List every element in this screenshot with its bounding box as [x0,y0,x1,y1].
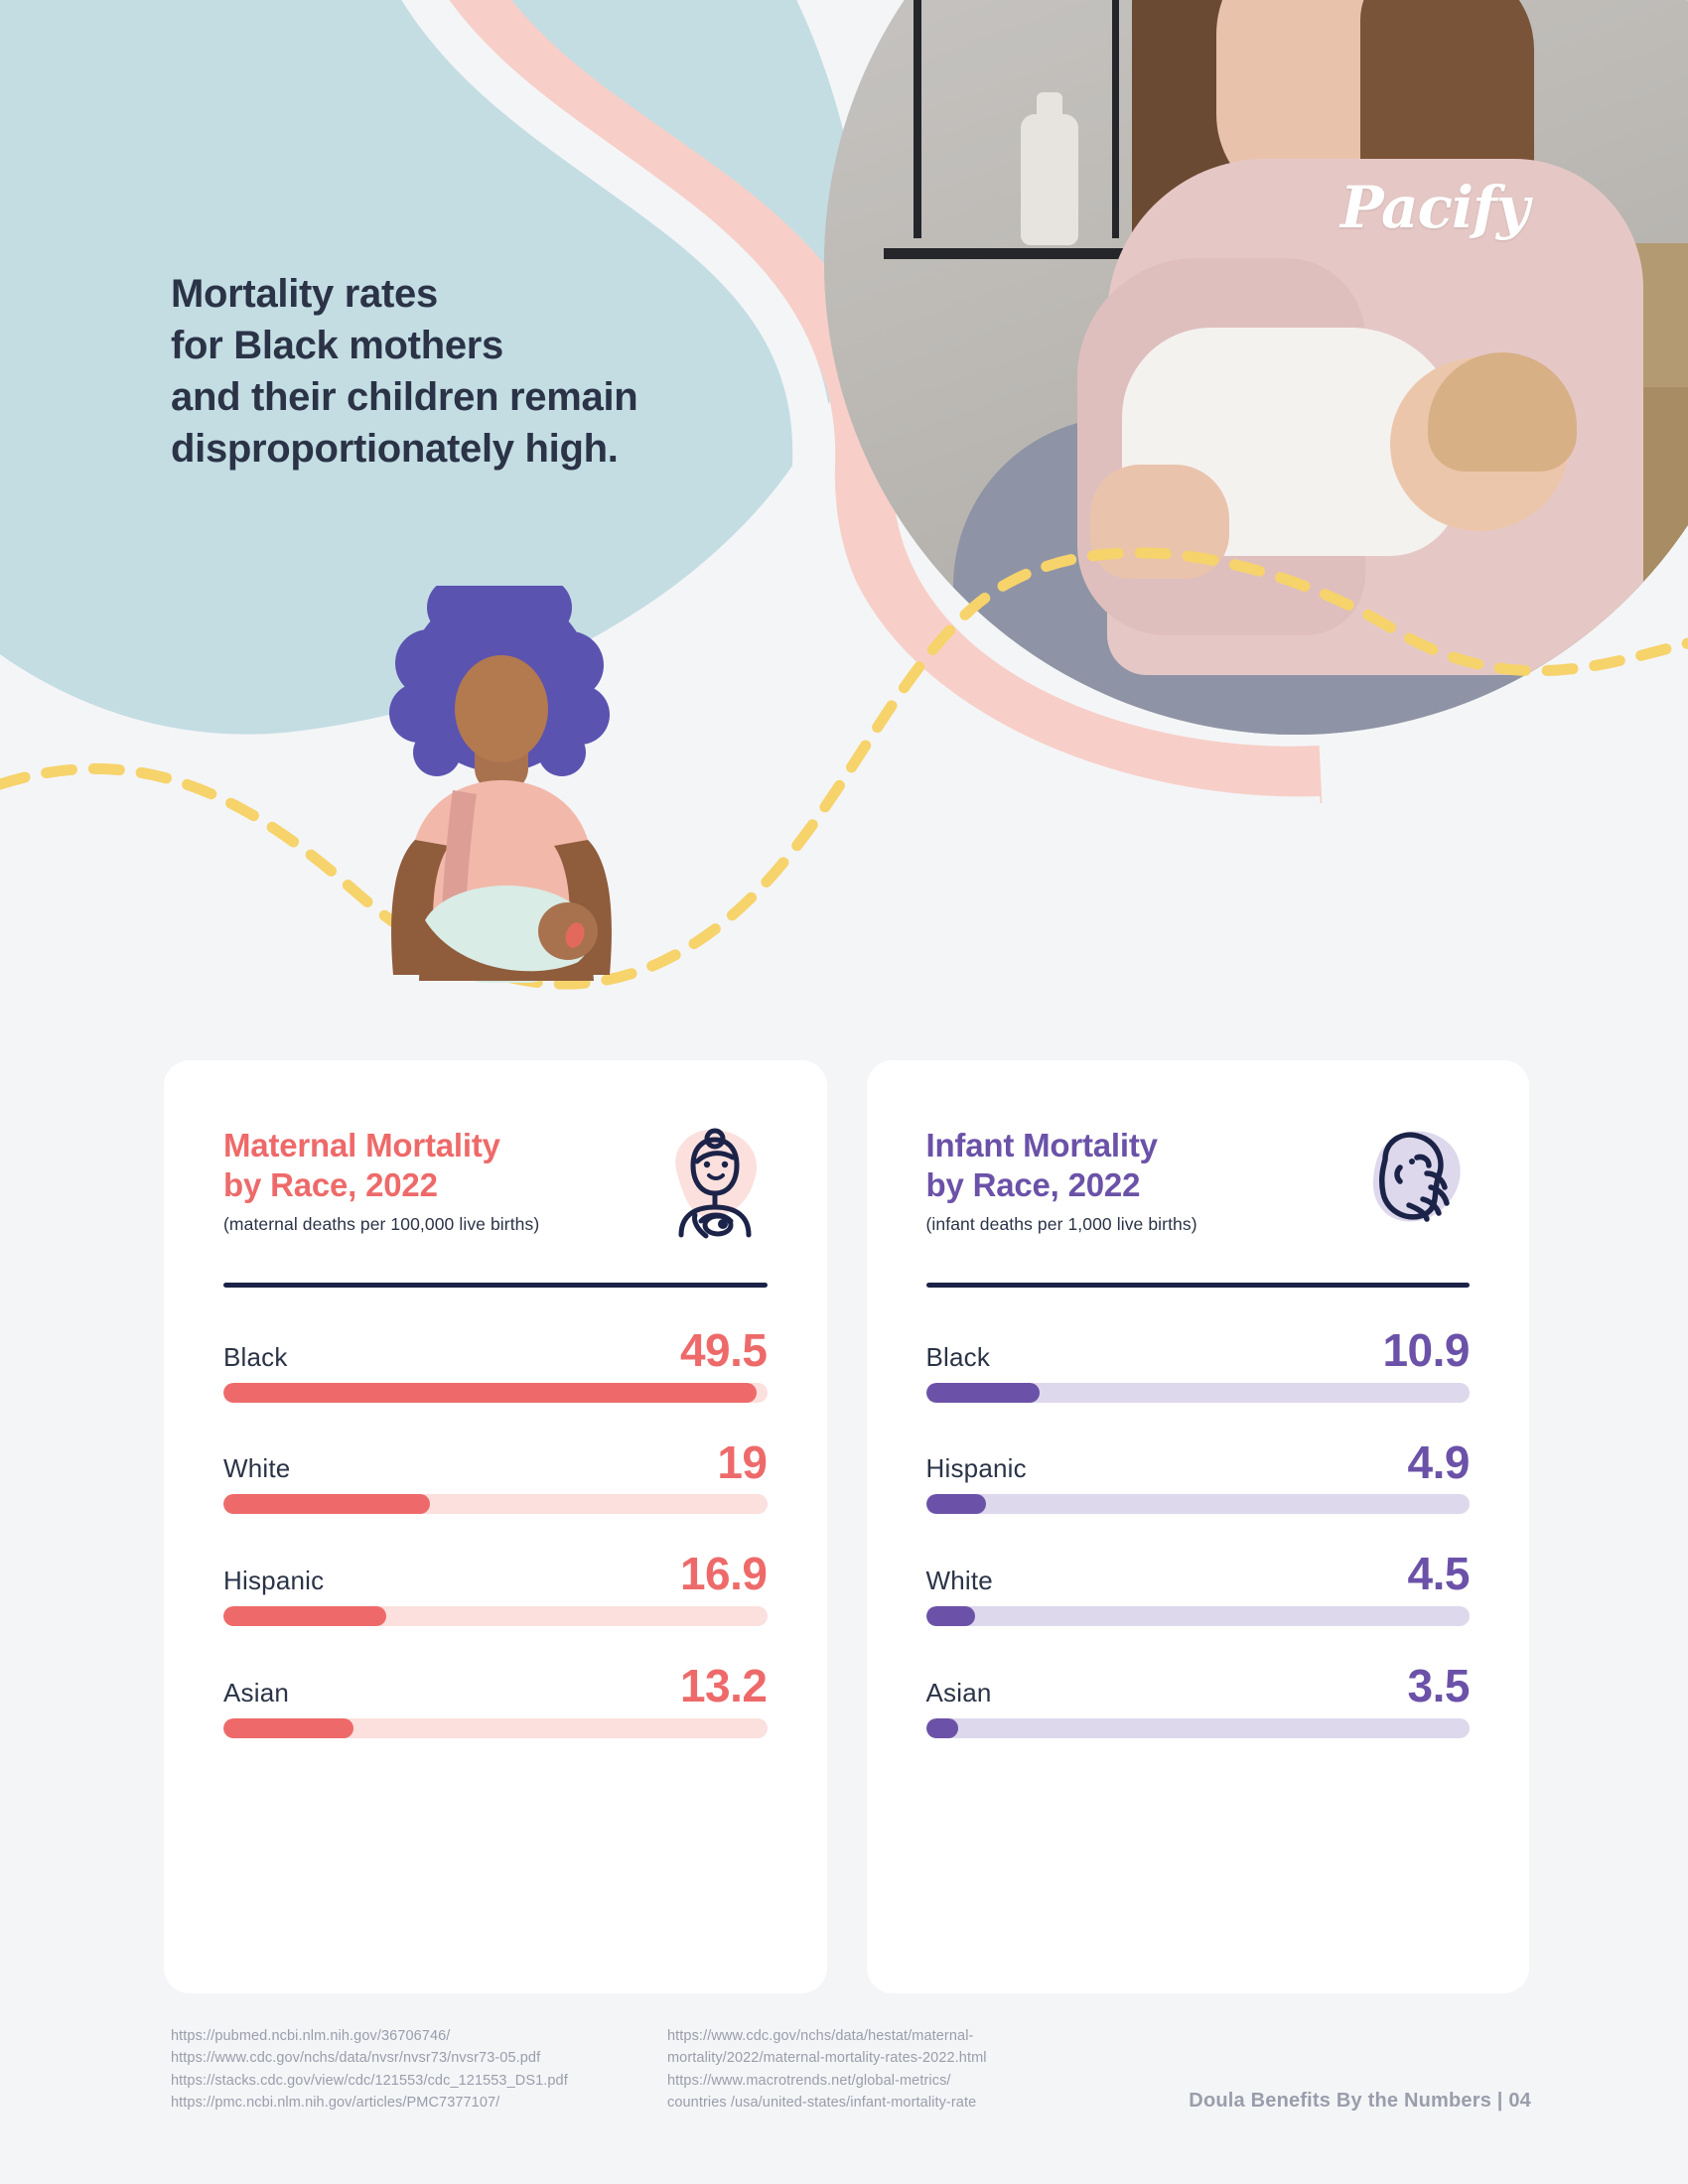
bar-value: 10.9 [1382,1329,1470,1373]
bar-label: White [223,1453,290,1484]
bar-label: Hispanic [223,1566,324,1596]
bar-row: Asian 3.5 [926,1665,1471,1738]
card-title: Infant Mortality by Race, 2022 [926,1126,1197,1206]
bar-track [223,1383,768,1403]
bar-row: Hispanic 16.9 [223,1553,768,1626]
bar-fill [223,1494,430,1514]
bar-rows: Black 49.5 White 19 [223,1329,768,1738]
bar-fill [926,1606,975,1626]
bar-label: Asian [223,1678,289,1708]
bar-fill [223,1383,757,1403]
bar-track [223,1606,768,1626]
card-divider [223,1283,768,1288]
mother-holding-baby-icon [663,1122,768,1241]
references-column-2: https://www.cdc.gov/nchs/data/hestat/mat… [667,2025,1094,2115]
card-title-line2: by Race, 2022 [926,1165,1197,1205]
card-divider [926,1283,1471,1288]
bar-label: Black [223,1342,288,1373]
bar-fill [926,1718,959,1738]
infographic-page: Pacify [0,0,1688,2184]
card-title-line2: by Race, 2022 [223,1165,539,1205]
bar-row: White 19 [223,1441,768,1515]
bar-row: Hispanic 4.9 [926,1441,1471,1515]
illustration-mother-and-baby [357,586,645,983]
bar-row: White 4.5 [926,1553,1471,1626]
card-maternal-mortality: Maternal Mortality by Race, 2022 (matern… [164,1060,827,1993]
bar-row: Black 10.9 [926,1329,1471,1403]
headline-line-2: for Black mothers [171,320,786,371]
bar-value: 19 [717,1441,767,1485]
bar-label: Black [926,1342,991,1373]
bar-track [926,1494,1471,1514]
bar-value: 4.9 [1408,1441,1470,1485]
page-footer: https://pubmed.ncbi.nlm.nih.gov/36706746… [171,2025,1531,2115]
bar-row: Asian 13.2 [223,1665,768,1738]
bar-track [223,1718,768,1738]
headline-line-1: Mortality rates [171,268,786,320]
bar-label: Hispanic [926,1453,1027,1484]
bar-value: 3.5 [1408,1665,1470,1708]
card-subtitle: (infant deaths per 1,000 live births) [926,1214,1197,1235]
headline-line-3: and their children remain [171,371,786,423]
bar-value: 4.5 [1408,1553,1470,1596]
bar-value: 16.9 [680,1553,768,1596]
bar-row: Black 49.5 [223,1329,768,1403]
bar-fill [926,1383,1041,1403]
references-column-1: https://pubmed.ncbi.nlm.nih.gov/36706746… [171,2025,667,2115]
charts-container: Maternal Mortality by Race, 2022 (matern… [164,1060,1529,1993]
mother-breastfeeding-photo [824,0,1688,735]
bar-fill [223,1606,386,1626]
card-subtitle: (maternal deaths per 100,000 live births… [223,1214,539,1235]
card-header: Maternal Mortality by Race, 2022 (matern… [223,1126,768,1241]
page-headline: Mortality rates for Black mothers and th… [171,268,786,475]
card-title: Maternal Mortality by Race, 2022 [223,1126,539,1206]
bar-rows: Black 10.9 Hispanic 4.9 [926,1329,1471,1738]
bar-track [926,1606,1471,1626]
card-title-line1: Maternal Mortality [223,1126,539,1165]
bar-value: 49.5 [680,1329,768,1373]
bar-label: Asian [926,1678,992,1708]
card-title-line1: Infant Mortality [926,1126,1197,1165]
bar-fill [223,1718,353,1738]
bar-track [223,1494,768,1514]
bar-label: White [926,1566,993,1596]
infant-fetus-icon [1365,1122,1470,1241]
bar-fill [926,1494,986,1514]
bar-track [926,1718,1471,1738]
card-header: Infant Mortality by Race, 2022 (infant d… [926,1126,1471,1241]
headline-line-4: disproportionately high. [171,423,786,475]
card-infant-mortality: Infant Mortality by Race, 2022 (infant d… [867,1060,1530,1993]
bar-value: 13.2 [680,1665,768,1708]
pacify-logo: Pacify [1340,174,1529,241]
page-label: Doula Benefits By the Numbers | 04 [1189,2090,1531,2115]
bar-track [926,1383,1471,1403]
